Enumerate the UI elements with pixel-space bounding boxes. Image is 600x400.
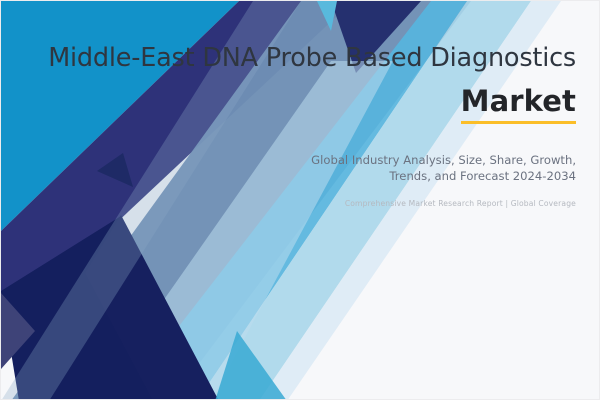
market-emphasis-group: Market: [461, 83, 576, 124]
cover-text-content: Middle-East DNA Probe Based Diagnostics …: [1, 1, 600, 400]
report-tagline: Comprehensive Market Research Report | G…: [236, 198, 576, 209]
market-emphasis-word: Market: [461, 83, 576, 119]
report-subtitle: Global Industry Analysis, Size, Share, G…: [246, 153, 576, 184]
subtitle-line-2: Trends, and Forecast 2024-2034: [389, 169, 576, 183]
report-cover: Middle-East DNA Probe Based Diagnostics …: [0, 0, 600, 400]
accent-underline: [461, 121, 576, 124]
page-title: Middle-East DNA Probe Based Diagnostics: [41, 41, 576, 75]
subtitle-line-1: Global Industry Analysis, Size, Share, G…: [311, 153, 576, 167]
